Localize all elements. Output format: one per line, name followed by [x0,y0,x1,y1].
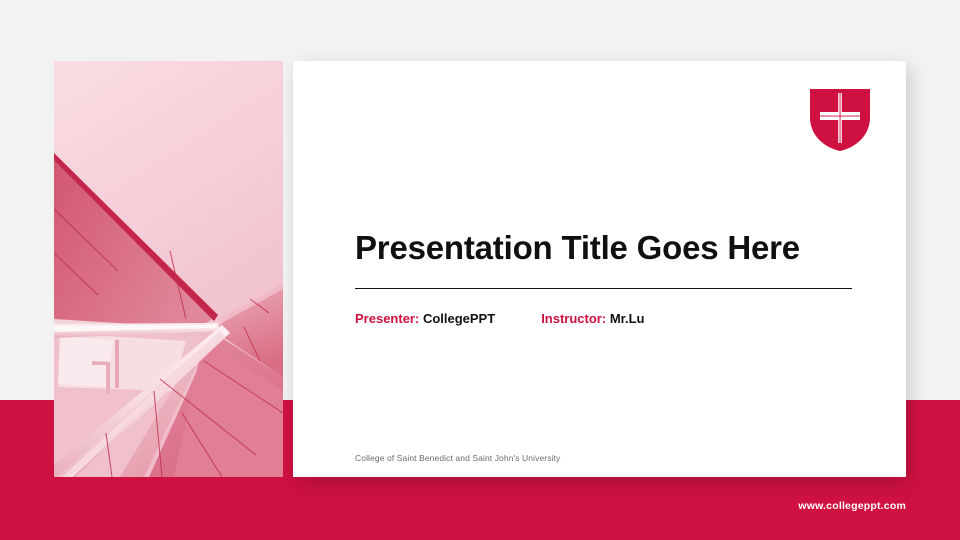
abstract-architecture-photo [54,61,283,477]
slide-canvas: www.collegeppt.com [0,0,960,540]
presenter-label: Presenter: [355,311,419,326]
photo-artwork [54,61,283,477]
presenter-field: Presenter: CollegePPT [355,311,495,326]
title-divider [355,288,852,289]
slide-content-card: Presentation Title Goes Here Presenter: … [293,61,906,477]
instructor-field: Instructor: Mr.Lu [541,311,644,326]
instructor-label: Instructor: [541,311,606,326]
instructor-value: Mr.Lu [610,311,645,326]
page-title: Presentation Title Goes Here [355,229,800,267]
institution-footnote: College of Saint Benedict and Saint John… [355,453,560,463]
shield-crest-artwork [806,85,874,155]
shield-crest-icon [806,85,874,155]
presenter-value: CollegePPT [423,311,495,326]
site-url-text: www.collegeppt.com [798,500,906,512]
presenter-meta-row: Presenter: CollegePPTInstructor: Mr.Lu [355,311,855,326]
